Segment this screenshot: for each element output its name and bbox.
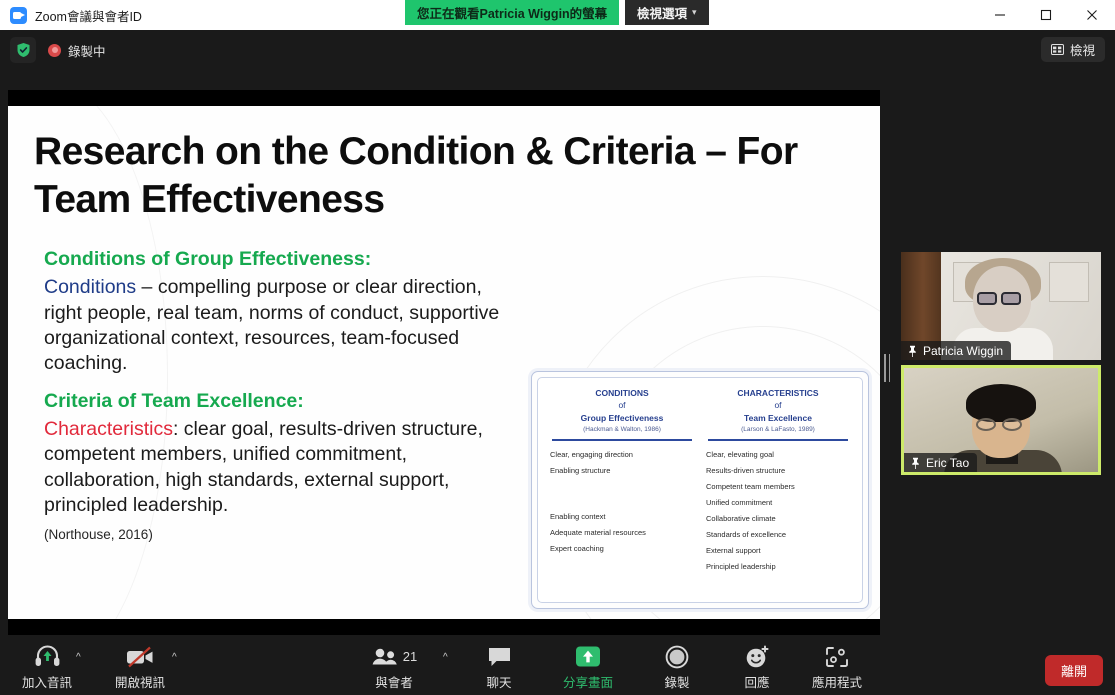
slide-body: Conditions of Group Effectiveness: Condi… bbox=[44, 246, 514, 542]
share-screen-label: 分享畫面 bbox=[563, 672, 613, 691]
participant-name: Eric Tao bbox=[926, 456, 969, 470]
figure-col1-header: CONDITIONS of Group Effectiveness (Hackm… bbox=[550, 387, 694, 434]
slide-title: Research on the Condition & Criteria – F… bbox=[34, 128, 834, 223]
participant-name: Patricia Wiggin bbox=[923, 344, 1003, 358]
figure-col2-rule bbox=[708, 439, 848, 441]
smiley-plus-icon bbox=[745, 643, 770, 670]
share-screen-button[interactable]: 分享畫面 bbox=[556, 643, 620, 691]
handle-bar bbox=[884, 354, 886, 382]
comparison-table-figure: CONDITIONS of Group Effectiveness (Hackm… bbox=[531, 371, 869, 609]
apps-label: 應用程式 bbox=[812, 672, 862, 691]
record-dot-icon bbox=[48, 44, 61, 57]
encryption-shield-icon[interactable] bbox=[10, 37, 36, 63]
reactions-label: 回應 bbox=[744, 672, 769, 691]
figure-col2-citation: (Larson & LaFasto, 1989) bbox=[706, 425, 850, 434]
figure-col2-item: Unified commitment bbox=[706, 498, 850, 507]
video-options-chevron-icon[interactable]: ^ bbox=[172, 652, 177, 663]
figure-col2-item: Collaborative climate bbox=[706, 514, 850, 523]
recording-indicator[interactable]: 錄製中 bbox=[48, 41, 106, 60]
apps-icon bbox=[825, 643, 849, 670]
meeting-toolbar: 加入音訊 ^ 開啟視訊 ^ 21 與會者 ^ bbox=[0, 639, 1115, 695]
slide-canvas: Research on the Condition & Criteria – F… bbox=[8, 106, 880, 619]
figure-col1-of: of bbox=[550, 399, 694, 411]
section-heading-criteria: Criteria of Team Excellence: bbox=[44, 388, 514, 414]
title-bar-left: Zoom會議與會者ID bbox=[0, 6, 142, 25]
view-layout-button[interactable]: 檢視 bbox=[1041, 37, 1105, 62]
participants-options-chevron-icon[interactable]: ^ bbox=[443, 652, 448, 663]
participants-label: 與會者 bbox=[375, 672, 413, 691]
figure-col2-item: Results-driven structure bbox=[706, 466, 850, 475]
shared-screen-stage[interactable]: Research on the Condition & Criteria – F… bbox=[8, 90, 880, 635]
camera-off-icon bbox=[125, 643, 155, 670]
people-icon bbox=[371, 648, 398, 665]
share-screen-icon bbox=[575, 643, 601, 670]
glasses-right bbox=[1001, 292, 1021, 305]
meeting-status-bar: 錄製中 檢視 bbox=[0, 30, 1115, 70]
pin-icon bbox=[910, 457, 921, 469]
figure-col2-header: CHARACTERISTICS of Team Excellence (Lars… bbox=[706, 387, 850, 434]
leave-meeting-button[interactable]: 離開 bbox=[1045, 655, 1103, 686]
participants-button[interactable]: 21 與會者 bbox=[362, 643, 426, 691]
figure-col1-item: Clear, engaging direction bbox=[550, 450, 694, 459]
reactions-button[interactable]: 回應 bbox=[725, 643, 789, 691]
pin-icon bbox=[907, 345, 918, 357]
zoom-logo-icon bbox=[10, 7, 27, 24]
recording-label: 錄製中 bbox=[68, 41, 106, 60]
figure-col2-subtitle: Team Excellence bbox=[706, 412, 850, 424]
figure-col1-subtitle: Group Effectiveness bbox=[550, 412, 694, 424]
figure-col2-item: Standards of excellence bbox=[706, 530, 850, 539]
panel-resize-handle[interactable] bbox=[882, 352, 892, 384]
glasses-left bbox=[976, 418, 996, 431]
slide-citation: (Northouse, 2016) bbox=[44, 527, 514, 542]
video-tile-patricia-wiggin[interactable]: Patricia Wiggin bbox=[901, 252, 1101, 360]
maximize-button[interactable] bbox=[1023, 0, 1069, 30]
figure-col2-item: External support bbox=[706, 546, 850, 555]
screen-share-banner: 您正在觀看Patricia Wiggin的螢幕 bbox=[405, 0, 619, 25]
section-text-criteria: Characteristics: clear goal, results-dri… bbox=[44, 417, 514, 518]
start-video-label: 開啟視訊 bbox=[115, 672, 165, 691]
record-label: 錄製 bbox=[664, 672, 689, 691]
figure-col1-citation: (Hackman & Walton, 1986) bbox=[550, 425, 694, 434]
participant-name-bar: Eric Tao bbox=[904, 453, 977, 472]
video-tile-eric-tao[interactable]: Eric Tao bbox=[901, 365, 1101, 475]
start-video-button[interactable]: 開啟視訊 bbox=[108, 643, 172, 691]
section-text-conditions: Conditions – compelling purpose or clear… bbox=[44, 275, 514, 376]
figure-column-conditions: CONDITIONS of Group Effectiveness (Hackm… bbox=[544, 387, 700, 596]
comparison-table-inner: CONDITIONS of Group Effectiveness (Hackm… bbox=[537, 377, 863, 603]
grid-view-icon bbox=[1051, 44, 1064, 55]
participant-count: 21 bbox=[403, 649, 417, 664]
participant-name-bar: Patricia Wiggin bbox=[901, 341, 1011, 360]
view-options-label: 檢視選項 bbox=[637, 3, 687, 22]
figure-col2-item: Competent team members bbox=[706, 482, 850, 491]
leave-label: 離開 bbox=[1061, 664, 1087, 679]
window-title-bar: Zoom會議與會者ID 您正在觀看Patricia Wiggin的螢幕 檢視選項… bbox=[0, 0, 1115, 30]
figure-col1-item: Adequate material resources bbox=[550, 528, 694, 537]
record-button[interactable]: 錄製 bbox=[645, 643, 709, 691]
figure-col1-title: CONDITIONS bbox=[550, 387, 694, 399]
figure-spacer bbox=[550, 482, 694, 512]
join-audio-label: 加入音訊 bbox=[22, 672, 72, 691]
presentation-slide: Research on the Condition & Criteria – F… bbox=[8, 90, 880, 635]
join-audio-button[interactable]: 加入音訊 bbox=[15, 643, 79, 691]
apps-button[interactable]: 應用程式 bbox=[805, 643, 869, 691]
close-button[interactable] bbox=[1069, 0, 1115, 30]
handle-bar bbox=[889, 354, 891, 382]
figure-col1-item: Expert coaching bbox=[550, 544, 694, 553]
share-banner-text: 您正在觀看Patricia Wiggin的螢幕 bbox=[417, 3, 607, 22]
figure-col2-of: of bbox=[706, 399, 850, 411]
figure-col1-item: Enabling structure bbox=[550, 466, 694, 475]
minimize-button[interactable] bbox=[977, 0, 1023, 30]
figure-col1-item: Enabling context bbox=[550, 512, 694, 521]
glasses-left bbox=[977, 292, 997, 305]
conditions-lead-word: Conditions bbox=[44, 276, 136, 298]
chat-button[interactable]: 聊天 bbox=[467, 643, 531, 691]
figure-col2-item: Principled leadership bbox=[706, 562, 850, 571]
chat-label: 聊天 bbox=[486, 672, 511, 691]
section-heading-conditions: Conditions of Group Effectiveness: bbox=[44, 246, 514, 272]
figure-col2-item: Clear, elevating goal bbox=[706, 450, 850, 459]
characteristics-lead-word: Characteristics bbox=[44, 418, 173, 440]
chat-bubble-icon bbox=[487, 643, 512, 670]
headset-icon bbox=[34, 643, 61, 670]
audio-options-chevron-icon[interactable]: ^ bbox=[76, 652, 81, 663]
figure-col2-title: CHARACTERISTICS bbox=[706, 387, 850, 399]
glasses-right bbox=[1002, 418, 1022, 431]
door-panel bbox=[1049, 262, 1089, 302]
app-title: Zoom會議與會者ID bbox=[35, 6, 142, 25]
record-circle-icon bbox=[665, 643, 689, 670]
view-label: 檢視 bbox=[1070, 40, 1095, 59]
participants-icon-group: 21 bbox=[371, 643, 417, 670]
figure-col1-rule bbox=[552, 439, 692, 441]
view-options-button[interactable]: 檢視選項 ▾ bbox=[625, 0, 709, 25]
window-controls bbox=[977, 0, 1115, 30]
participant-hair bbox=[966, 384, 1036, 422]
figure-column-characteristics: CHARACTERISTICS of Team Excellence (Lars… bbox=[700, 387, 856, 596]
chevron-down-icon: ▾ bbox=[692, 7, 697, 18]
